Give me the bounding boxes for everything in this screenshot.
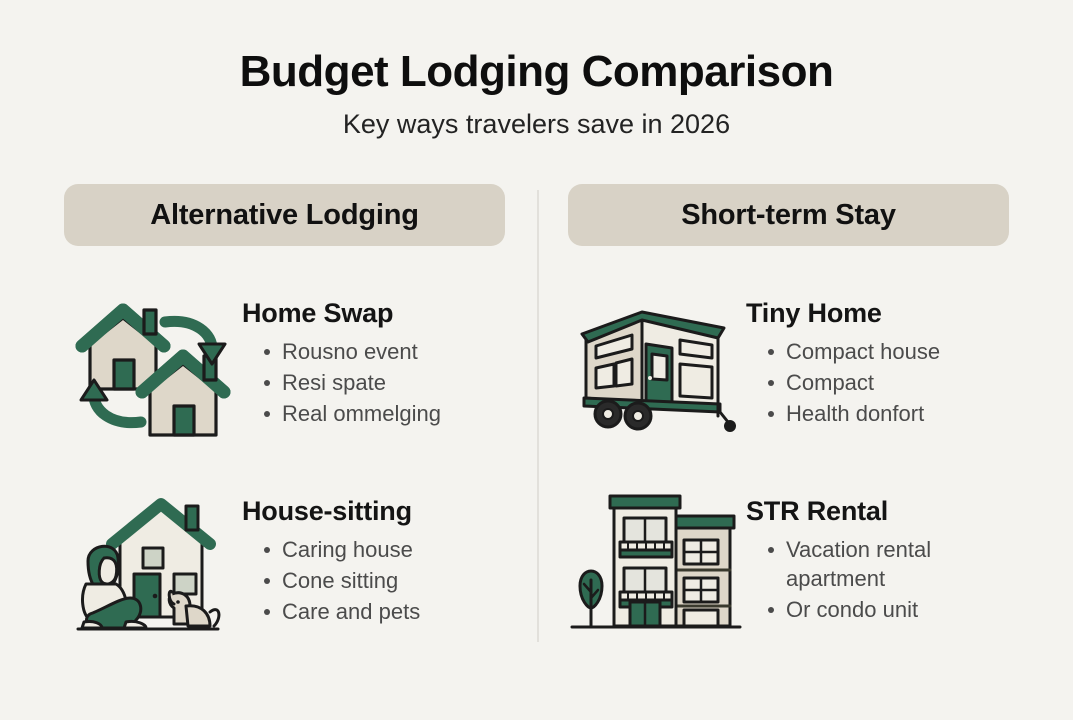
bullet-item: Resi spate xyxy=(264,368,505,397)
item-bullets: Rousno event Resi spate Real ommelging xyxy=(242,337,505,428)
page-subtitle: Key ways travelers save in 2026 xyxy=(0,110,1073,140)
bullet-item: Care and pets xyxy=(264,597,505,626)
page-title: Budget Lodging Comparison xyxy=(0,48,1073,96)
item-text-block: Tiny Home Compact house Compact Health d… xyxy=(746,288,1009,430)
bullet-item: Compact house xyxy=(768,337,1009,366)
apartment-building-icon xyxy=(568,486,746,636)
column-header-short-term-stay: Short-term Stay xyxy=(568,184,1009,246)
home-swap-icon xyxy=(64,288,242,438)
list-item: STR Rental Vacation rental apartment Or … xyxy=(568,486,1009,636)
tiny-home-icon xyxy=(568,288,746,438)
column-header-label: Alternative Lodging xyxy=(150,199,419,232)
bullet-item: Cone sitting xyxy=(264,566,505,595)
list-item: Tiny Home Compact house Compact Health d… xyxy=(568,288,1009,438)
item-text-block: House-sitting Caring house Cone sitting … xyxy=(242,486,505,628)
column-header-alternative-lodging: Alternative Lodging xyxy=(64,184,505,246)
bullet-item: Health donfort xyxy=(768,399,1009,428)
page-header: Budget Lodging Comparison Key ways trave… xyxy=(0,0,1073,140)
item-bullets: Vacation rental apartment Or condo unit xyxy=(746,535,1009,624)
item-bullets: Caring house Cone sitting Care and pets xyxy=(242,535,505,626)
bullet-item: Caring house xyxy=(264,535,505,564)
column-header-label: Short-term Stay xyxy=(681,199,896,232)
column-alternative-lodging: Alternative Lodging xyxy=(64,184,505,636)
item-title: Home Swap xyxy=(242,298,505,329)
bullet-item: Real ommelging xyxy=(264,399,505,428)
item-title: Tiny Home xyxy=(746,298,1009,329)
column-divider xyxy=(537,190,539,642)
bullet-item: Or condo unit xyxy=(768,595,1009,624)
item-title: House-sitting xyxy=(242,496,505,527)
house-sitting-icon xyxy=(64,486,242,636)
list-item: Home Swap Rousno event Resi spate Real o… xyxy=(64,288,505,438)
column-short-term-stay: Short-term Stay xyxy=(568,184,1009,636)
bullet-item: Rousno event xyxy=(264,337,505,366)
bullet-item: Vacation rental apartment xyxy=(768,535,1001,593)
comparison-columns: Alternative Lodging xyxy=(0,184,1073,636)
list-item: House-sitting Caring house Cone sitting … xyxy=(64,486,505,636)
item-title: STR Rental xyxy=(746,496,1009,527)
item-text-block: Home Swap Rousno event Resi spate Real o… xyxy=(242,288,505,430)
bullet-item: Compact xyxy=(768,368,1009,397)
item-bullets: Compact house Compact Health donfort xyxy=(746,337,1009,428)
item-text-block: STR Rental Vacation rental apartment Or … xyxy=(746,486,1009,626)
